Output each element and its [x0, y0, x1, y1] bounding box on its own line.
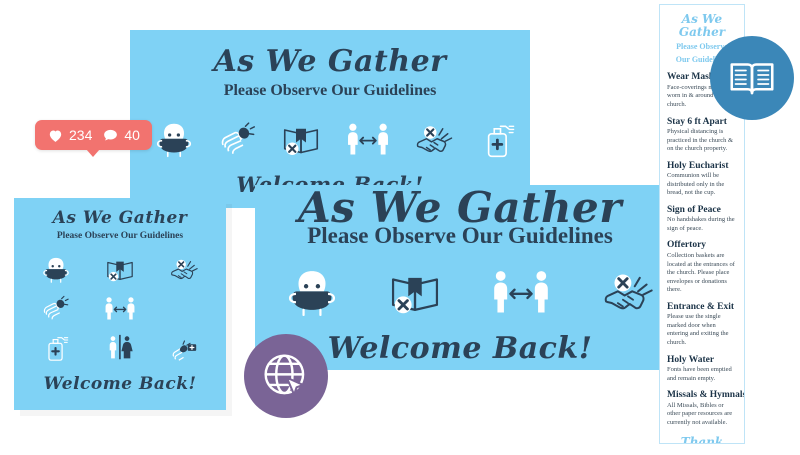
restroom-signs-icon: [105, 333, 135, 363]
no-handshake-icon: [414, 120, 454, 160]
flyer-section: Entrance & Exit Please use the single ma…: [667, 302, 737, 348]
flyer-section: Holy Water Fonts have been emptied and r…: [667, 355, 737, 384]
banner-bottom-subtitle: Please Observe Our Guidelines: [255, 223, 665, 249]
card-small-footer: Welcome Back!: [14, 374, 226, 394]
social-distance-icon: [103, 295, 137, 323]
hand-sanitizer-kit-icon: [169, 333, 199, 363]
flyer-section-body: No handshakes during the sign of peace.: [667, 216, 737, 233]
flyer-section-heading: Missals & Hymnals: [667, 390, 737, 400]
social-distance-icon: [345, 120, 391, 160]
flyer-section-heading: Stay 6 ft Apart: [667, 117, 737, 127]
flyer-section-heading: Holy Water: [667, 355, 737, 365]
card-small-subtitle: Please Observe Our Guidelines: [14, 231, 226, 241]
banner-top-icon-row: [154, 114, 518, 166]
composite-canvas: As We Gather Please Observe Our Guidelin…: [0, 0, 800, 455]
banner-bottom-icon-row: [285, 261, 655, 325]
flyer-section-body: Collection baskets are located at the en…: [667, 252, 737, 295]
no-handshake-icon: [169, 255, 199, 285]
like-group[interactable]: 234: [47, 127, 92, 144]
like-count: 234: [69, 127, 92, 143]
face-mask-icon: [41, 255, 71, 285]
cover-cough-icon: [41, 294, 71, 324]
flyer-section: Stay 6 ft Apart Physical distancing is p…: [667, 117, 737, 154]
banner-bottom[interactable]: As We Gather Please Observe Our Guidelin…: [255, 185, 665, 370]
flyer-section: Offertory Collection baskets are located…: [667, 240, 737, 294]
no-shared-book-icon: [105, 255, 135, 285]
flyer-section-heading: Holy Eucharist: [667, 161, 737, 171]
flyer-section-heading: Sign of Peace: [667, 205, 737, 215]
sanitizer-spray-icon: [478, 120, 518, 160]
face-mask-icon: [285, 266, 339, 320]
flyer-section-heading: Offertory: [667, 240, 737, 250]
flyer-thank-you: Thank You!: [667, 435, 737, 444]
open-book-icon: [728, 54, 776, 102]
heart-icon: [47, 127, 64, 144]
flyer-section: Holy Eucharist Communion will be distrib…: [667, 161, 737, 198]
globe-cursor-icon: [260, 350, 312, 402]
face-mask-icon: [154, 120, 194, 160]
flyer-section-body: Communion will be distributed only in th…: [667, 172, 737, 198]
card-small-square[interactable]: As We Gather Please Observe Our Guidelin…: [14, 198, 226, 410]
flyer-section-body: Please use the single marked door when e…: [667, 313, 737, 347]
flyer-title: As We Gather: [667, 13, 737, 39]
banner-top[interactable]: As We Gather Please Observe Our Guidelin…: [130, 30, 530, 208]
flyer-section-heading: Entrance & Exit: [667, 302, 737, 312]
card-small-icon-grid: [24, 250, 216, 368]
flyer-section-body: Physical distancing is practiced in the …: [667, 128, 737, 154]
card-small-title: As We Gather: [14, 208, 226, 228]
chip-open-book[interactable]: [710, 36, 794, 120]
engagement-badge[interactable]: 234 40: [35, 120, 152, 150]
comment-group[interactable]: 40: [102, 127, 140, 144]
speech-bubble-icon: [102, 127, 119, 144]
no-shared-book-icon: [281, 120, 321, 160]
flyer-section: Missals & Hymnals All Missals, Bibles or…: [667, 390, 737, 427]
banner-top-title: As We Gather: [130, 44, 530, 79]
cover-cough-icon: [218, 120, 258, 160]
no-shared-book-icon: [388, 266, 442, 320]
flyer-section-body: Fonts have been emptied and remain empty…: [667, 366, 737, 383]
no-handshake-icon: [601, 266, 655, 320]
social-distance-icon: [490, 267, 552, 319]
flyer-section: Sign of Peace No handshakes during the s…: [667, 205, 737, 234]
banner-top-subtitle: Please Observe Our Guidelines: [130, 82, 530, 100]
chip-globe-cursor[interactable]: [244, 334, 328, 418]
spray-bottle-icon: [41, 333, 71, 363]
comment-count: 40: [124, 127, 140, 143]
badge-tail: [86, 149, 100, 157]
flyer-section-body: All Missals, Bibles or other paper resou…: [667, 402, 737, 428]
